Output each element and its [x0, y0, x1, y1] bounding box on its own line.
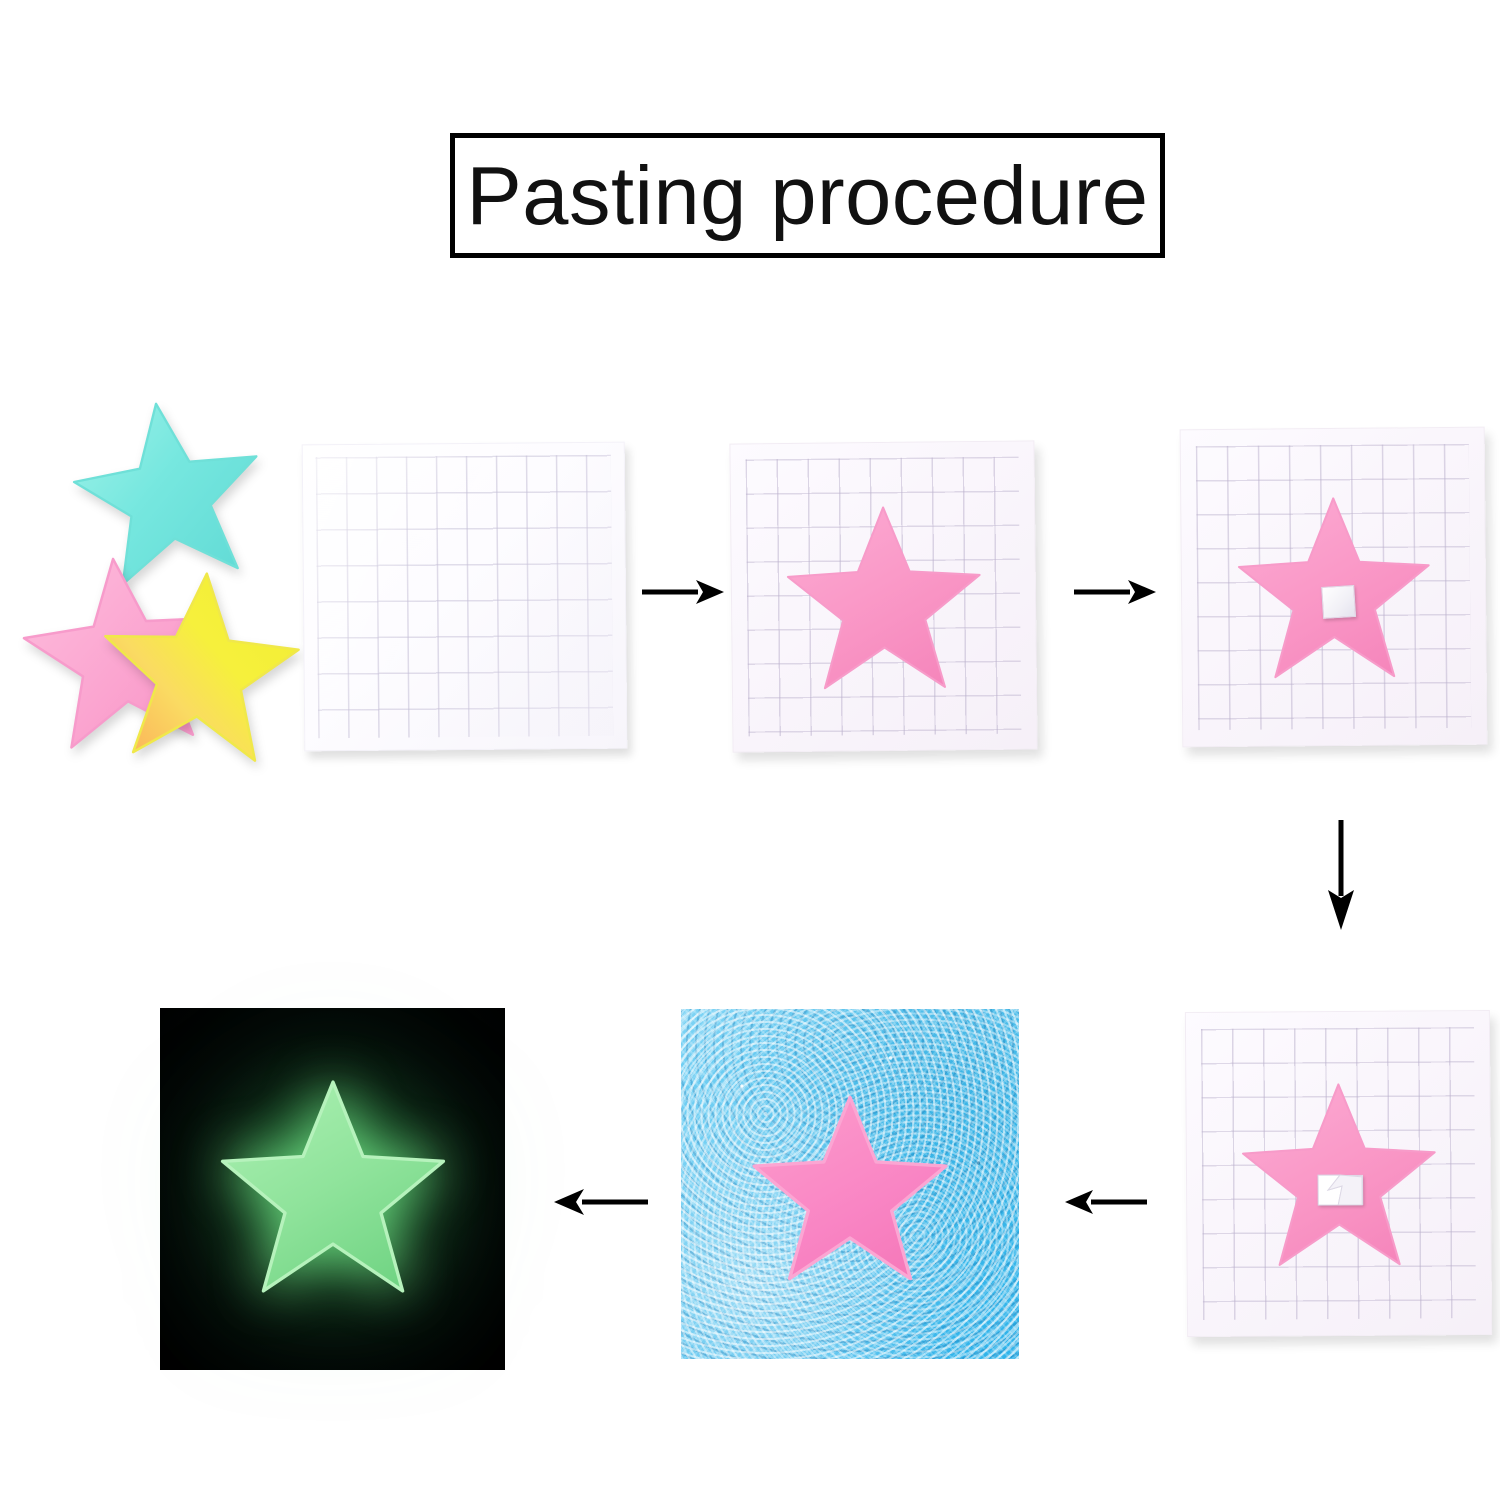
glowing-green-star [210, 1073, 455, 1301]
arrow-step5-to-step6 [552, 1182, 650, 1222]
peeled-liner-icon [1316, 1172, 1366, 1208]
step6-glow-in-dark [160, 1008, 505, 1370]
glow-star-wrapper [210, 1073, 455, 1306]
adhesive-pad-sheet [302, 442, 628, 752]
adhesive-square [1321, 585, 1356, 619]
step2-sheet-with-star [729, 440, 1037, 752]
adhesive-square-grid [316, 455, 614, 738]
arrow-step3-to-step4 [1318, 818, 1364, 932]
step5-star-on-wall [681, 1009, 1019, 1359]
step4-sheet-liner-peeled [1185, 1010, 1492, 1337]
wall-pink-star [744, 1089, 956, 1287]
page-title-box: Pasting procedure [450, 133, 1165, 258]
arrow-step2-to-step3 [1072, 572, 1158, 612]
arrow-step1-to-step2 [640, 572, 726, 612]
page-title: Pasting procedure [466, 154, 1148, 237]
step3-sheet-square-attached [1180, 427, 1488, 748]
yellow-star [88, 565, 313, 765]
arrow-step4-to-step5 [1063, 1182, 1149, 1222]
applied-pink-star [775, 495, 992, 697]
loose-stars-group [10, 385, 310, 785]
